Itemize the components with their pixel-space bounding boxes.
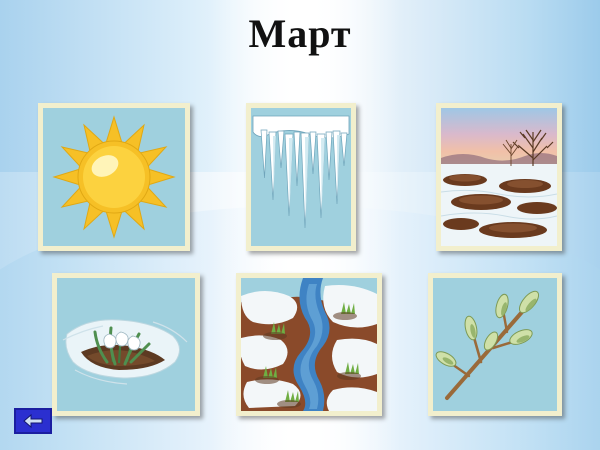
page-title: Март (0, 10, 600, 57)
snowdrops-picture-inner (57, 278, 195, 411)
buds-branch-illustration (433, 278, 557, 411)
back-button[interactable] (14, 408, 52, 434)
snowdrops-picture[interactable] (52, 273, 200, 416)
thawed-field-picture-inner (441, 108, 557, 246)
snowdrops-illustration (57, 278, 195, 411)
stream-picture[interactable] (236, 273, 382, 416)
icicles-illustration (251, 108, 351, 246)
stream-picture-inner (241, 278, 377, 411)
icicles-picture[interactable] (246, 103, 356, 251)
thawed-field-picture[interactable] (436, 103, 562, 251)
stream-illustration (241, 278, 377, 411)
back-arrow-icon (22, 413, 44, 429)
thawed-field-illustration (441, 108, 557, 246)
slide-canvas: Март (0, 0, 600, 450)
icicles-picture-inner (251, 108, 351, 246)
buds-branch-picture[interactable] (428, 273, 562, 416)
buds-branch-picture-inner (433, 278, 557, 411)
sun-illustration (43, 108, 185, 246)
sun-picture[interactable] (38, 103, 190, 251)
sun-picture-inner (43, 108, 185, 246)
